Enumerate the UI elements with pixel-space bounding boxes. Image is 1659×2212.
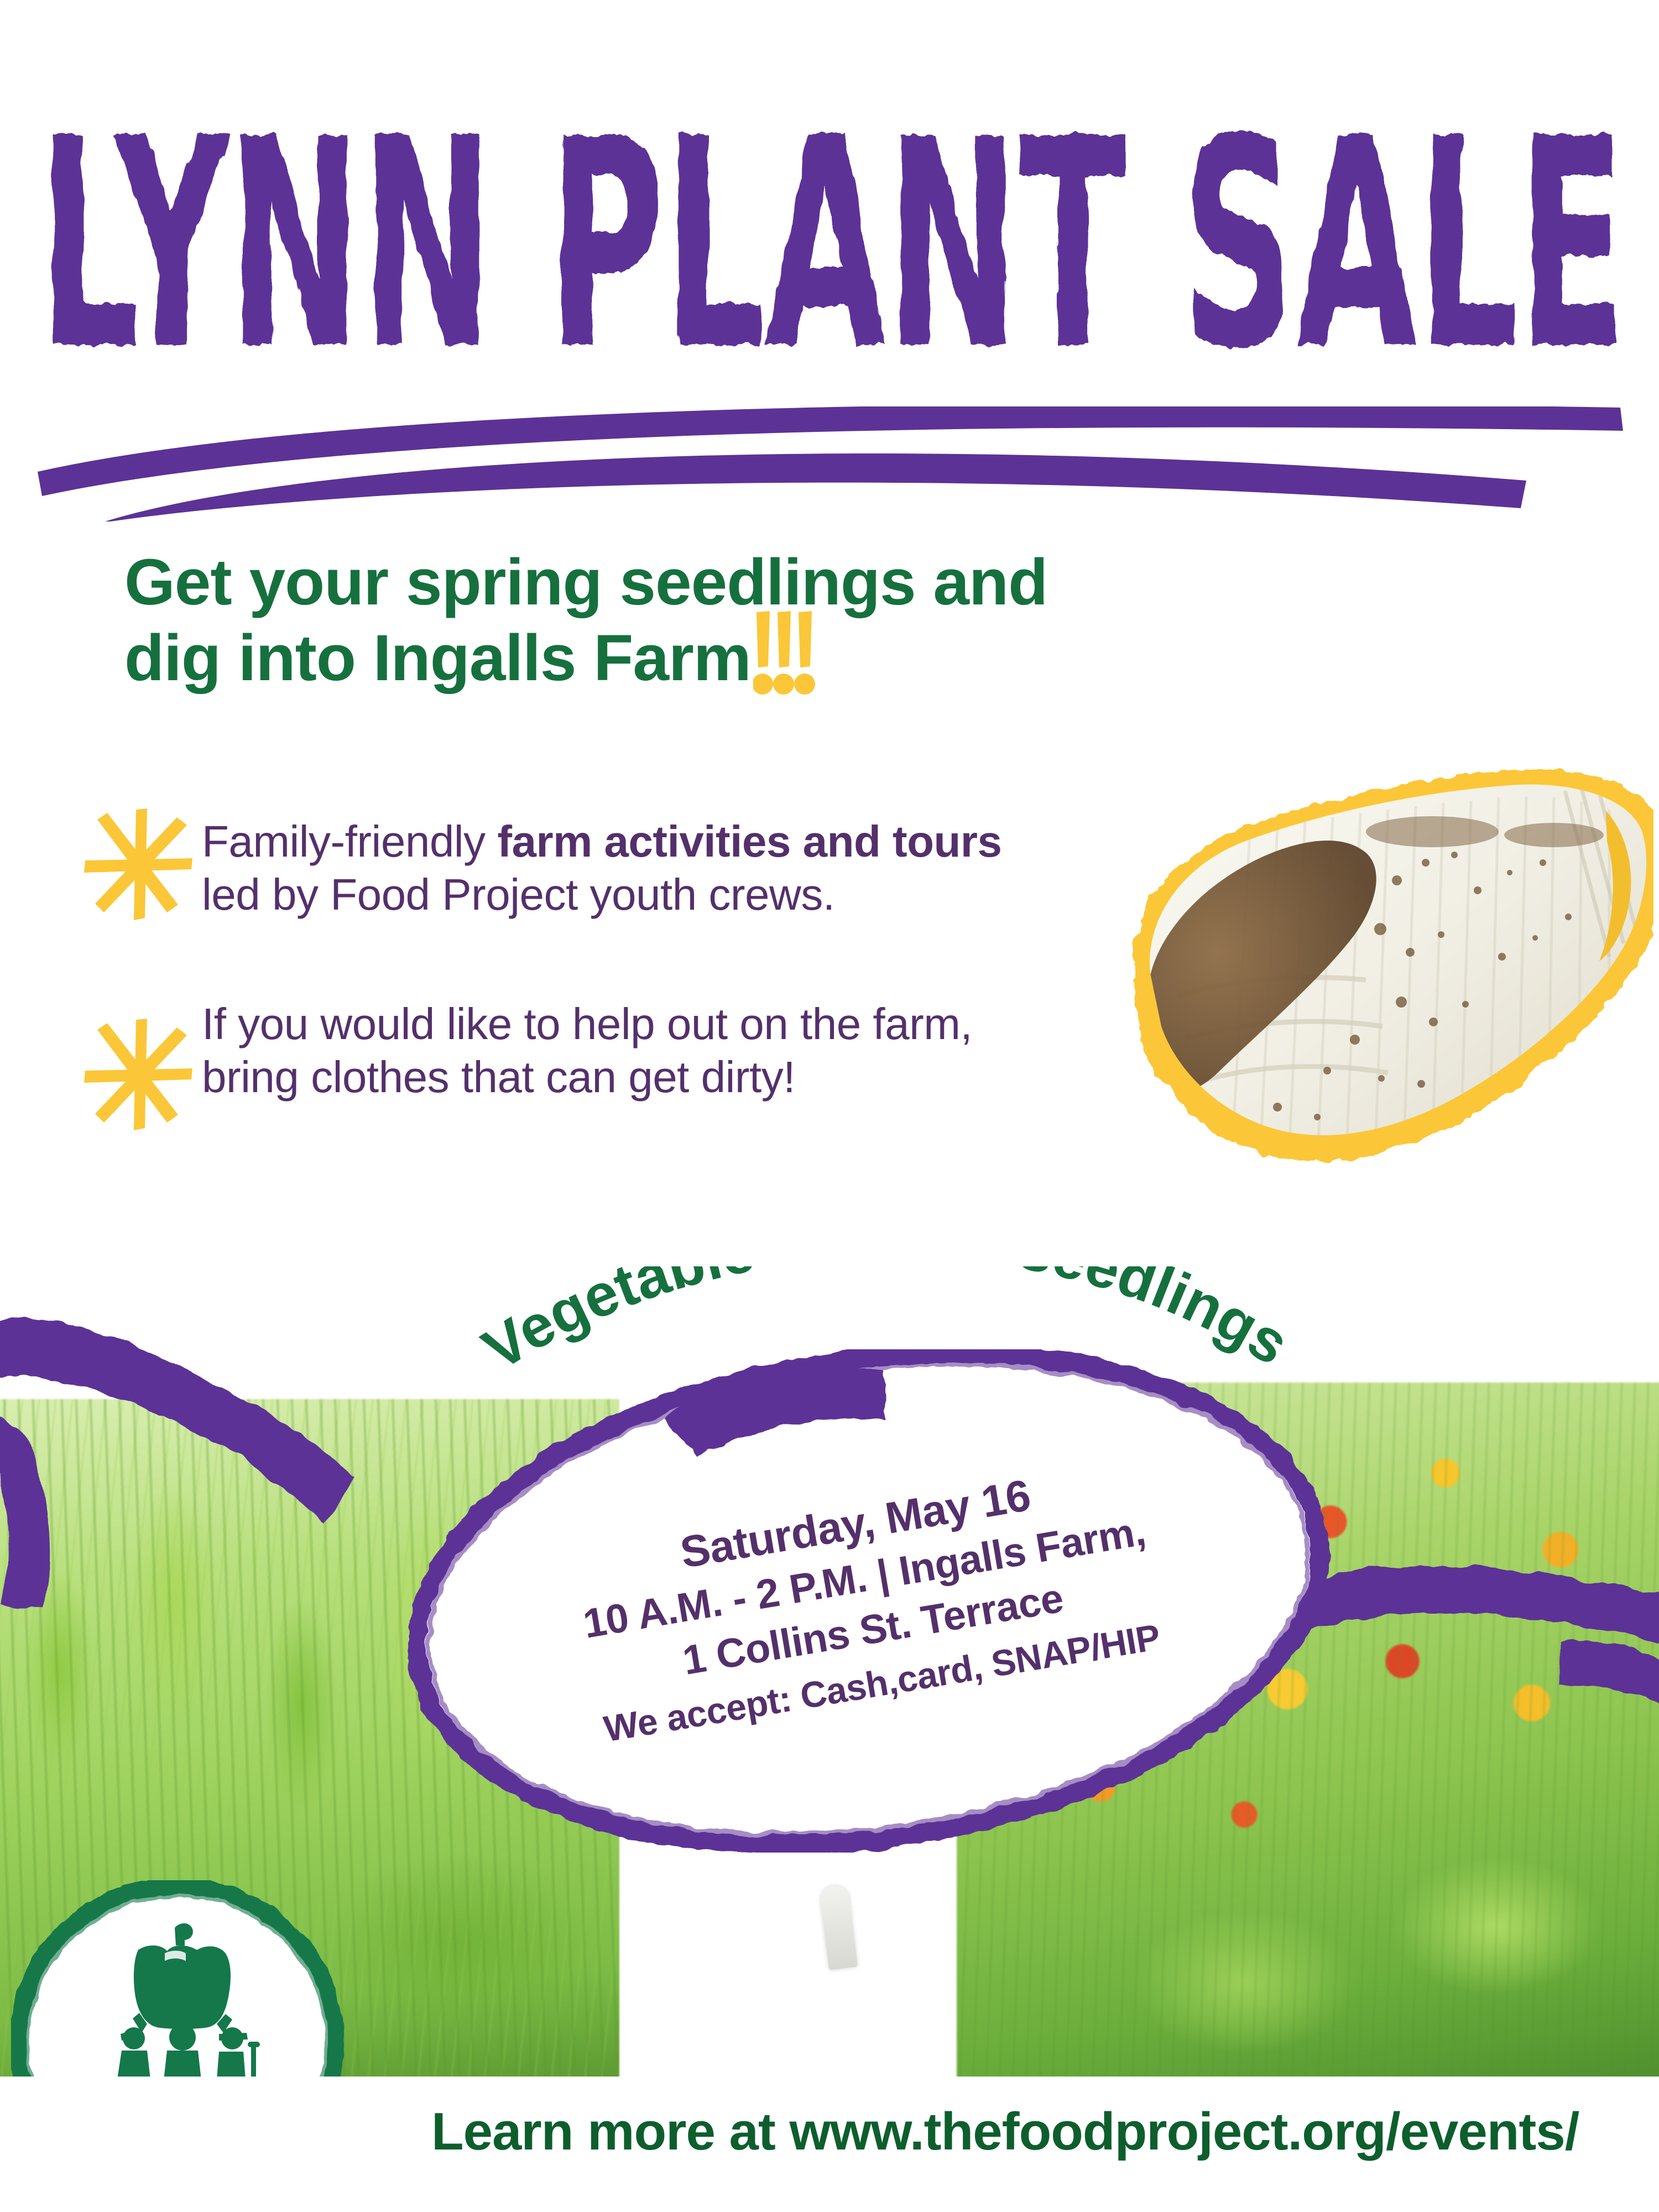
list-item: Family-friendly farm activities and tour…	[83, 807, 1056, 924]
starburst-svg	[83, 807, 194, 924]
bangs-svg	[753, 609, 820, 700]
starburst-icon	[83, 807, 202, 924]
pitchfork-grip	[248, 2042, 260, 2047]
title-glyphs: LYNN PLANT SALE	[39, 111, 1626, 393]
starburst-icon	[83, 984, 202, 1134]
title-brush-lettering: LYNN PLANT SALE	[39, 111, 1631, 393]
subtitle-line-2: dig into Ingalls Farm	[124, 622, 751, 695]
subtitle: Get your spring seedlings and dig into I…	[124, 545, 1286, 696]
footer-learn-more-text[interactable]: Learn more at www.thefoodproject.org/eve…	[431, 2101, 1579, 2162]
underline-stroke-bottom	[105, 453, 1526, 521]
gardening-glove-photo	[1067, 697, 1653, 1200]
starburst-svg	[83, 1018, 194, 1134]
right-figure-hat	[219, 2033, 248, 2041]
subtitle-line-1: Get your spring seedlings and	[124, 545, 1286, 620]
pepper-stem	[175, 1923, 193, 1945]
glove-svg	[1067, 697, 1653, 1200]
bullet-text: If you would like to help out on the far…	[202, 984, 1056, 1104]
bullet-part-2-bold: farm activities and tours	[497, 817, 1001, 866]
bullet-text: Family-friendly farm activities and tour…	[202, 807, 1056, 921]
bullet-list: Family-friendly farm activities and tour…	[83, 807, 1056, 1134]
subtitle-line-2-wrap: dig into Ingalls Farm	[124, 620, 1286, 696]
list-item: If you would like to help out on the far…	[83, 984, 1056, 1134]
bullet-part-1: Family-friendly	[202, 817, 497, 866]
underline-svg	[33, 406, 1637, 523]
bullet-part-3: led by Food Project youth crews.	[202, 870, 835, 919]
page-title: LYNN PLANT SALE	[39, 111, 1631, 393]
center-figure-head	[169, 2024, 196, 2051]
exclamation-marks-icon	[751, 680, 817, 680]
title-underline-strokes	[33, 406, 1637, 523]
plant-label-tag	[819, 1884, 858, 1970]
event-details-bubble: Saturday, May 16 10 A.M. - 2 P.M. | Inga…	[387, 1349, 1349, 1853]
